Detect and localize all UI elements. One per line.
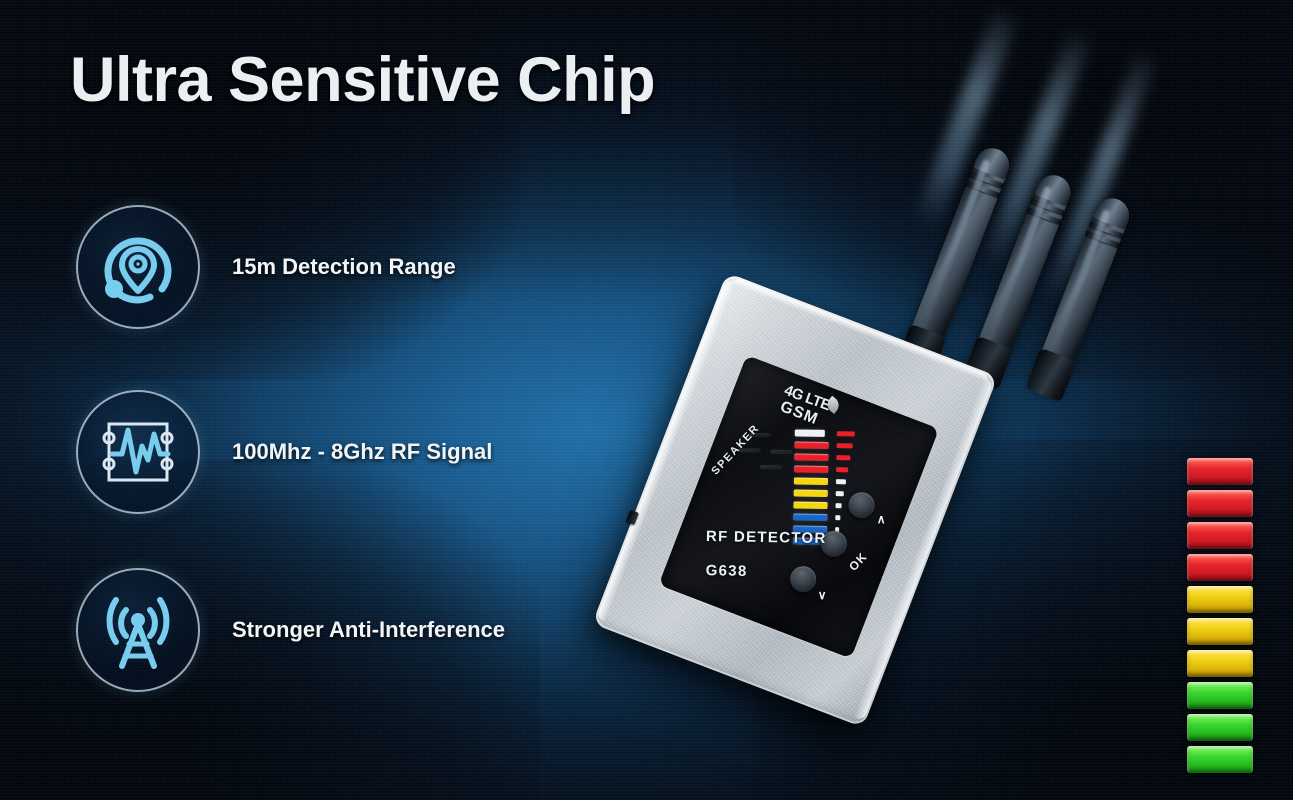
antenna-tower-icon: [76, 568, 200, 692]
down-arrow-icon: ∨: [818, 588, 827, 602]
led-segment: [1187, 682, 1253, 709]
up-arrow-icon: ∧: [877, 512, 886, 526]
rf-detector-device: 4G LTE GSM SPEAKER: [590, 90, 1210, 730]
page-title: Ultra Sensitive Chip: [70, 44, 655, 116]
led-segment: [1187, 746, 1253, 773]
led-segment: [1187, 490, 1253, 517]
feature-row-detection-range: 15m Detection Range: [76, 205, 456, 329]
model-name-label: RF DETECTOR: [706, 528, 827, 547]
feature-row-rf-signal: 100Mhz - 8Ghz RF Signal: [76, 390, 492, 514]
promo-banner: Ultra Sensitive Chip 15m Detection Range: [0, 0, 1293, 800]
feature-label: Stronger Anti-Interference: [232, 617, 505, 643]
led-segment: [1187, 618, 1253, 645]
led-segment: [1187, 586, 1253, 613]
feature-label: 100Mhz - 8Ghz RF Signal: [232, 439, 492, 465]
waveform-chip-icon: [76, 390, 200, 514]
feature-row-anti-interference: Stronger Anti-Interference: [76, 568, 505, 692]
led-segment: [1187, 714, 1253, 741]
model-code-label: G638: [706, 562, 748, 580]
led-segment: [1187, 522, 1253, 549]
led-segment: [1187, 458, 1253, 485]
feature-label: 15m Detection Range: [232, 254, 456, 280]
led-segment: [1187, 554, 1253, 581]
led-segment: [1187, 650, 1253, 677]
led-level-strip: [1187, 458, 1255, 780]
location-pin-icon: [76, 205, 200, 329]
